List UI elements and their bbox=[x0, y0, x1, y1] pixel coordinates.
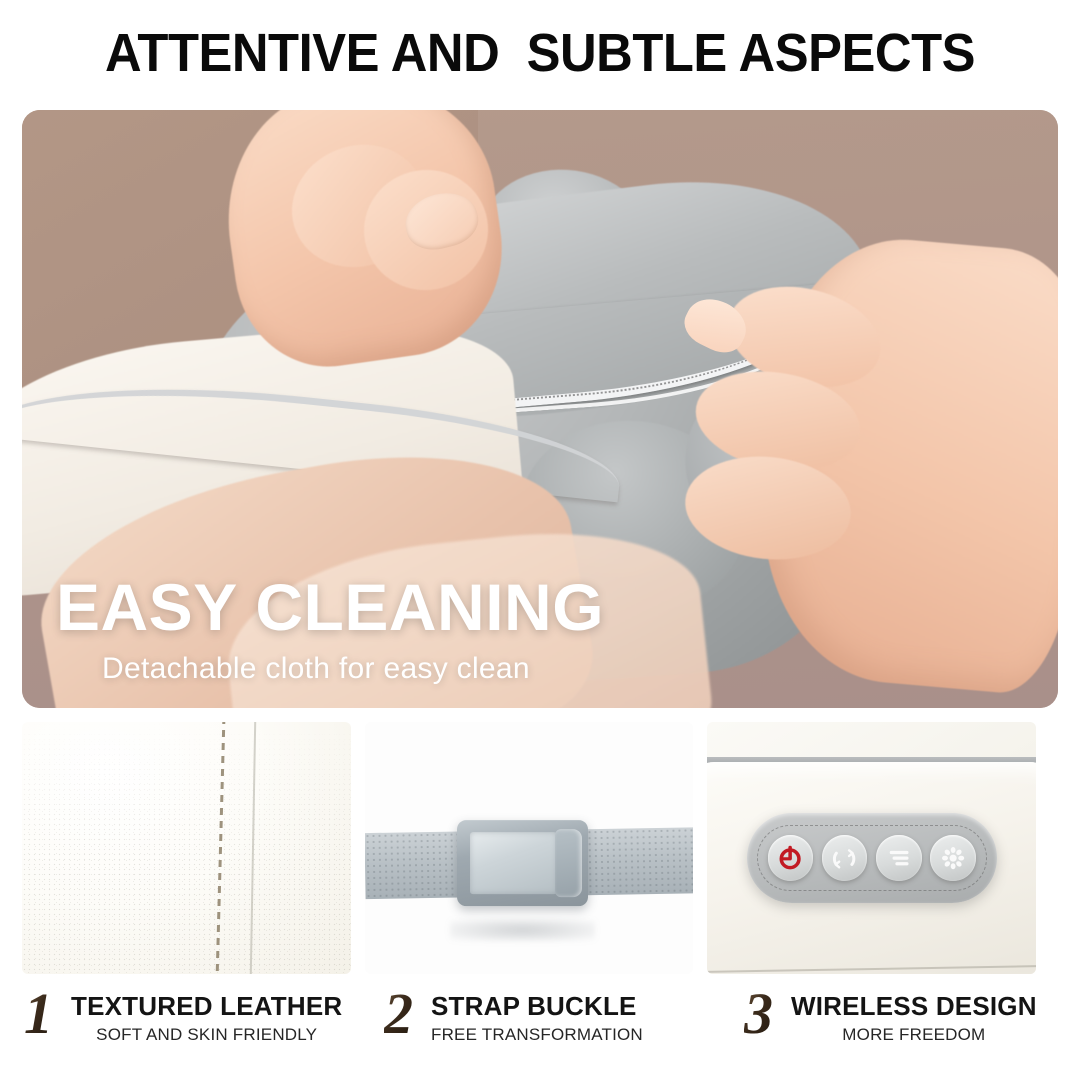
feature-text: TEXTURED LEATHER SOFT AND SKIN FRIENDLY bbox=[71, 986, 342, 1045]
feature-title: STRAP BUCKLE bbox=[431, 992, 643, 1022]
feature-caption-1: 1 TEXTURED LEATHER SOFT AND SKIN FRIENDL… bbox=[0, 986, 360, 1056]
wireless-design-thumb bbox=[707, 722, 1036, 974]
buckle-shadow bbox=[450, 919, 595, 942]
feature-subtitle: MORE FREEDOM bbox=[791, 1025, 1037, 1045]
feature-title: TEXTURED LEATHER bbox=[71, 992, 342, 1022]
hero-subtitle: Detachable cloth for easy clean bbox=[102, 652, 604, 686]
control-panel bbox=[747, 813, 997, 904]
intensity-button[interactable] bbox=[876, 835, 922, 881]
massage-nodes-icon bbox=[939, 844, 967, 872]
buckle-lever bbox=[555, 829, 581, 898]
device-seam bbox=[707, 965, 1036, 974]
easy-cleaning-hero-image: EASY CLEANING Detachable cloth for easy … bbox=[22, 110, 1058, 708]
feature-caption-3: 3 WIRELESS DESIGN MORE FREEDOM bbox=[720, 986, 1080, 1056]
rotation-arrows-icon bbox=[830, 844, 858, 872]
feature-subtitle: SOFT AND SKIN FRIENDLY bbox=[71, 1025, 342, 1045]
textured-leather-thumb bbox=[22, 722, 351, 974]
strap-scene bbox=[365, 722, 694, 974]
buckle-plate bbox=[470, 832, 557, 894]
feature-thumbnail-strip bbox=[22, 722, 1036, 974]
hero-text-block: EASY CLEANING Detachable cloth for easy … bbox=[56, 574, 604, 686]
power-icon bbox=[776, 844, 804, 872]
power-button[interactable] bbox=[768, 835, 814, 881]
hero-title: EASY CLEANING bbox=[56, 574, 604, 640]
strap-buckle-thumb bbox=[365, 722, 694, 974]
feature-subtitle: FREE TRANSFORMATION bbox=[431, 1025, 643, 1045]
speed-level-icon bbox=[885, 844, 913, 872]
feature-number: 1 bbox=[24, 986, 53, 1041]
feature-title: WIRELESS DESIGN bbox=[791, 992, 1037, 1022]
device-scene bbox=[707, 722, 1036, 974]
kneading-nodes-button[interactable] bbox=[930, 835, 976, 881]
feature-number: 2 bbox=[384, 986, 413, 1041]
leather-grain-texture bbox=[22, 722, 351, 974]
direction-button[interactable] bbox=[822, 835, 868, 881]
strap-buckle bbox=[457, 820, 588, 906]
feature-text: STRAP BUCKLE FREE TRANSFORMATION bbox=[431, 986, 643, 1045]
feature-caption-row: 1 TEXTURED LEATHER SOFT AND SKIN FRIENDL… bbox=[0, 986, 1080, 1056]
feature-number: 3 bbox=[744, 986, 773, 1041]
page-title: ATTENTIVE AND SUBTLE ASPECTS bbox=[32, 22, 1047, 84]
feature-caption-2: 2 STRAP BUCKLE FREE TRANSFORMATION bbox=[360, 986, 720, 1056]
feature-text: WIRELESS DESIGN MORE FREEDOM bbox=[791, 986, 1037, 1045]
